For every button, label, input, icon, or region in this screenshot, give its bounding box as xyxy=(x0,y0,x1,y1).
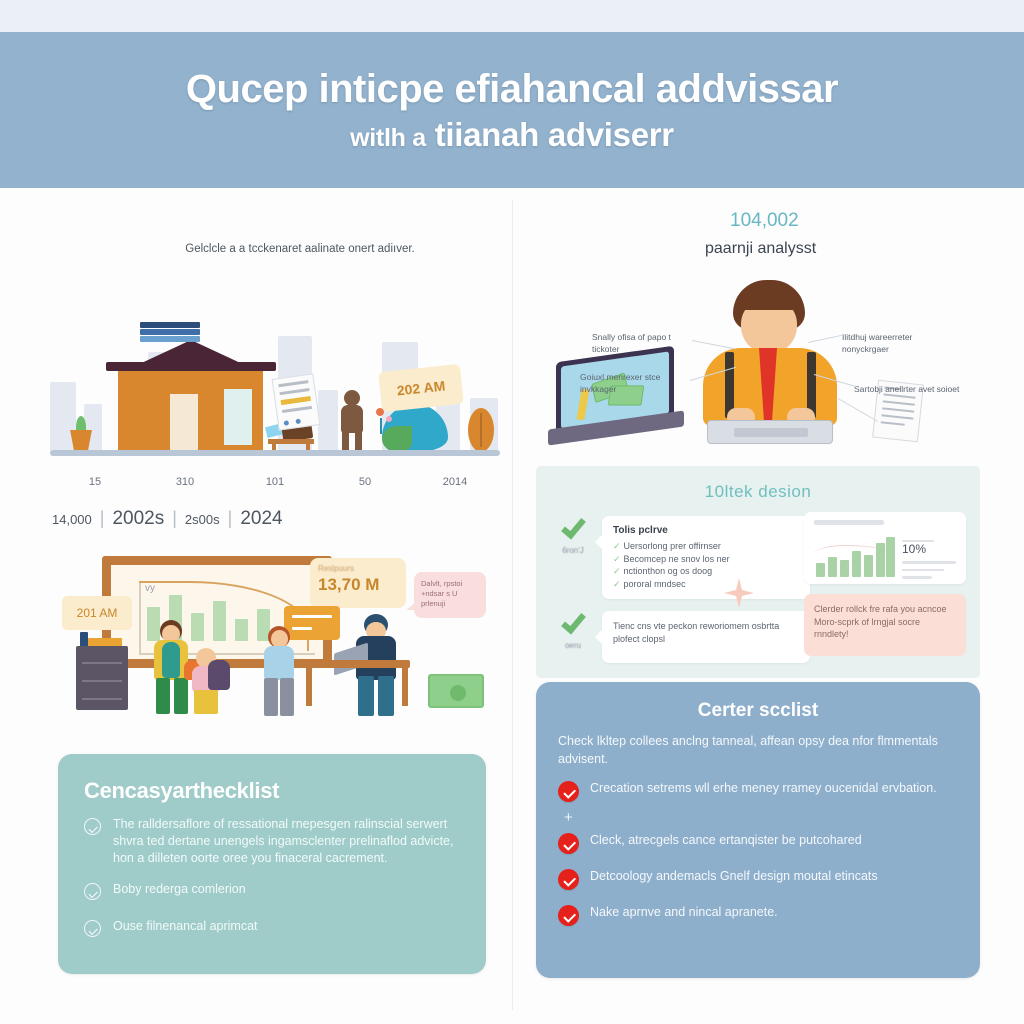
metric-percent: 10% xyxy=(902,542,956,556)
red-check-icon xyxy=(558,905,579,926)
timeline-baseline xyxy=(50,450,500,456)
axis-tick-4: 2014 xyxy=(410,476,500,488)
amount-callout-bubble: 202 AM xyxy=(378,364,464,412)
red-check-icon xyxy=(558,869,579,890)
document-icon xyxy=(272,373,321,430)
stat-label: paarnji analysst xyxy=(705,240,816,258)
person-client xyxy=(258,626,302,716)
timeline-axis-ticks: 15 310 101 50 2014 xyxy=(50,476,500,488)
house-icon xyxy=(118,366,263,452)
year-strip-value-3: 2s00s xyxy=(185,512,220,527)
list-item-label: Nake aprnve and nincal apranete. xyxy=(590,904,778,921)
checklist-card-left: Cencasyarthecklist The ralldersaflore of… xyxy=(58,754,486,974)
bullet-check-icon: ✓ xyxy=(613,579,621,589)
list-item[interactable]: Boby rederga comlerion xyxy=(84,881,460,900)
left-caption: Gelclcle a a tcckenaret aalinate onert a… xyxy=(180,242,420,257)
analyst-figure xyxy=(695,280,845,450)
year-strip-sep-1: | xyxy=(100,508,105,529)
list-item-label: The ralldersaflore of ressational rnepes… xyxy=(113,816,460,867)
red-check-icon xyxy=(558,781,579,802)
bullet-check-icon: ✓ xyxy=(613,541,621,551)
infographic-page: Qucep inticpe efiahancal addvissar witlh… xyxy=(0,0,1024,1024)
stat-number: 104,002 xyxy=(730,210,799,232)
tips-card-bullet: ✓pororal mndsec xyxy=(613,578,799,591)
bullet-check-icon: ✓ xyxy=(613,554,621,564)
axis-tick-2: 101 xyxy=(230,476,320,488)
check-circle-icon xyxy=(84,818,101,835)
metric-card-values: 10% xyxy=(902,535,956,575)
pale-panel-title: 10ltek desion xyxy=(552,482,964,502)
green-check-group-2: oeru xyxy=(552,611,594,650)
page-title-line-2-main: tiianah adviserr xyxy=(435,116,674,153)
ideation-panel: 10ltek desion 6ron'J Tolis pclrve ✓Uerso… xyxy=(536,466,980,678)
list-item[interactable]: Ouse filnenancal aprimcat xyxy=(84,918,460,937)
list-item-label: Crecation setrems wll erhe meney rramey … xyxy=(590,780,937,797)
note-card-body: Tienc cns vte peckon reworiomem osbrtta … xyxy=(613,620,799,645)
annotation-label-3: Ilitdhuj wareerreter nonyckrgaer xyxy=(842,332,958,355)
meeting-table xyxy=(298,660,410,668)
check-circle-icon xyxy=(84,920,101,937)
cabinet-icon xyxy=(76,646,128,710)
axis-tick-1: 310 xyxy=(140,476,230,488)
year-value-strip: 14,000 | 2002s | 2s00s | 2024 xyxy=(52,508,283,530)
red-check-icon xyxy=(558,833,579,854)
list-item-label: Cleck, atrecgels cance ertanqister be pu… xyxy=(590,832,862,849)
list-item[interactable]: The ralldersaflore of ressational rnepes… xyxy=(84,816,460,867)
revenue-bubble: Reslpuurs 13,70 M xyxy=(310,558,406,608)
illustration-advisor-meeting: vy 201 AM Reslpuurs 13,70 M Dalvlt, rpst… xyxy=(62,548,492,718)
year-strip-sep-3: | xyxy=(228,508,233,529)
column-divider xyxy=(512,200,513,1010)
list-item-label: Ouse filnenancal aprimcat xyxy=(113,918,258,937)
person-silhouette-icon xyxy=(338,390,366,452)
check-caption: 6ron'J xyxy=(552,546,594,555)
list-item[interactable]: Nake aprnve and nincal apranete. xyxy=(558,904,958,926)
year-strip-value-4: 2024 xyxy=(240,508,282,530)
tips-card-bullet: ✓nctionthon og os doog xyxy=(613,565,799,578)
check-caption: oeru xyxy=(552,641,594,650)
green-check-group-1: 6ron'J xyxy=(552,516,594,555)
metric-card[interactable]: 10% xyxy=(804,512,966,584)
revenue-bubble-value: 13,70 M xyxy=(318,575,398,595)
check-icon xyxy=(561,514,586,540)
metric-card-header-bar xyxy=(814,520,884,525)
tips-card-bullet: ✓Becomcep ne snov los ner xyxy=(613,553,799,566)
annotation-label-1: Snally ofisa of papo t tickoter xyxy=(592,332,690,355)
year-strip-value-2: 2002s xyxy=(112,508,164,530)
check-icon xyxy=(561,609,586,635)
pink-callout-card: Clerder rollck fre rafa you acncoe Moro-… xyxy=(804,594,966,656)
illustration-analyst-desk: Snally ofisa of papo t tickoter Goiuxl m… xyxy=(520,266,1000,456)
list-item[interactable]: Cleck, atrecgels cance ertanqister be pu… xyxy=(558,832,958,854)
person-child xyxy=(190,648,228,718)
illustration-house-savings: 202 AM xyxy=(50,310,500,470)
tips-card-title: Tolis pclrve xyxy=(613,525,799,536)
revenue-bubble-label: Reslpuurs xyxy=(318,564,398,573)
page-header-band: Qucep inticpe efiahancal addvissar witlh… xyxy=(0,32,1024,188)
mini-bar-chart xyxy=(814,533,894,577)
small-amount-bubble: 201 AM xyxy=(62,596,132,630)
blue-card-title: Certer scclist xyxy=(558,700,958,722)
plus-icon: + xyxy=(564,809,958,826)
list-item[interactable]: Detcoology andemacls Gnelf design moutal… xyxy=(558,868,958,890)
tips-card[interactable]: Tolis pclrve ✓Uersorlong prer offirnser … xyxy=(602,516,810,599)
leaf-icon xyxy=(468,408,494,452)
checklist-card-right: Certer scclist Check lkltep collees ancl… xyxy=(536,682,980,978)
pink-speech-bubble: Dalvlt, rpstoi +ndsar s U prlenuji xyxy=(414,572,486,618)
list-item[interactable]: Crecation setrems wll erhe meney rramey … xyxy=(558,780,958,802)
blue-card-lead: Check lkltep collees anclng tanneal, aff… xyxy=(558,732,958,768)
axis-tick-0: 15 xyxy=(50,476,140,488)
check-circle-icon xyxy=(84,883,101,900)
potted-plant-icon xyxy=(68,418,94,452)
page-title-line-2: witlh a tiianah adviserr xyxy=(350,116,674,154)
note-card[interactable]: Tienc cns vte peckon reworiomem osbrtta … xyxy=(602,611,810,663)
bullet-check-icon: ✓ xyxy=(613,566,621,576)
teal-card-title: Cencasyarthecklist xyxy=(84,778,460,804)
books-stack-icon xyxy=(140,322,200,340)
laptop-icon xyxy=(548,354,684,444)
list-item-label: Boby rederga comlerion xyxy=(113,881,246,900)
axis-tick-3: 50 xyxy=(320,476,410,488)
annotation-label-2: Goiuxl menrexer stce invkkager xyxy=(580,372,690,395)
page-title-line-2-prefix: witlh a xyxy=(350,124,426,152)
tips-card-bullet: ✓Uersorlong prer offirnser xyxy=(613,540,799,553)
year-strip-sep-2: | xyxy=(172,508,177,529)
banknote-icon xyxy=(428,674,484,708)
annotation-label-4: Sartobji anellrter avet soioet xyxy=(854,384,962,396)
list-item-label: Detcoology andemacls Gnelf design moutal… xyxy=(590,868,878,885)
year-strip-value-1: 14,000 xyxy=(52,512,92,527)
page-title-line-1: Qucep inticpe efiahancal addvissar xyxy=(186,67,838,112)
